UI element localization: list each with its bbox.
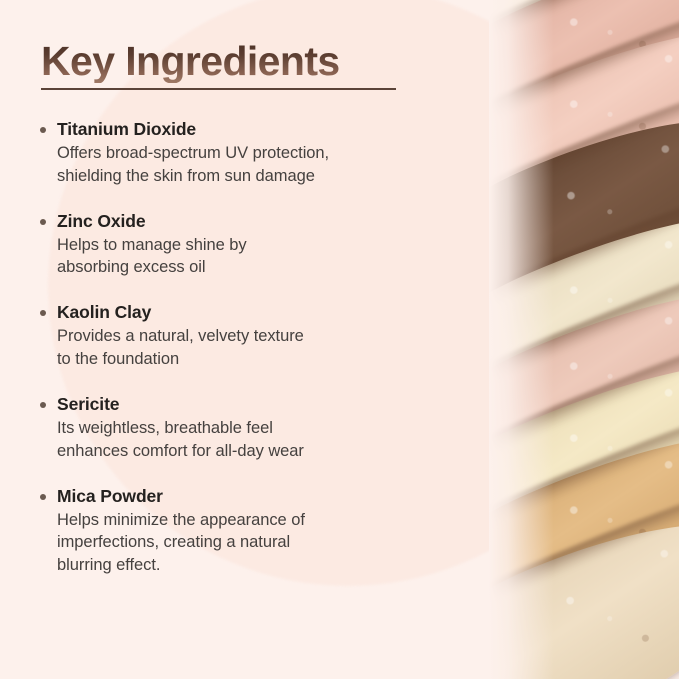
bullet-icon xyxy=(40,219,46,225)
powder-swatch-image xyxy=(489,0,679,679)
list-item: Mica Powder Helps minimize the appearanc… xyxy=(38,485,438,577)
page-title: Key Ingredients xyxy=(41,40,340,83)
ingredient-name: Kaolin Clay xyxy=(38,301,438,324)
title-underline xyxy=(41,88,396,90)
key-ingredients-infographic: Key Ingredients Titanium Dioxide Offers … xyxy=(0,0,679,679)
ingredient-description: Offers broad-spectrum UV protection, shi… xyxy=(38,142,438,188)
bullet-icon xyxy=(40,494,46,500)
ingredient-description: Provides a natural, velvety texture to t… xyxy=(38,325,438,371)
ingredient-name: Titanium Dioxide xyxy=(38,118,438,141)
list-item: Titanium Dioxide Offers broad-spectrum U… xyxy=(38,118,438,188)
ingredient-name: Sericite xyxy=(38,393,438,416)
bullet-icon xyxy=(40,127,46,133)
ingredient-description: Helps minimize the appearance of imperfe… xyxy=(38,509,438,577)
bullet-icon xyxy=(40,402,46,408)
ingredient-description: Helps to manage shine by absorbing exces… xyxy=(38,234,438,280)
ingredient-name: Mica Powder xyxy=(38,485,438,508)
list-item: Zinc Oxide Helps to manage shine by abso… xyxy=(38,210,438,280)
powder-bands-group xyxy=(489,0,679,679)
ingredient-description: Its weightless, breathable feel enhances… xyxy=(38,417,438,463)
ingredient-name: Zinc Oxide xyxy=(38,210,438,233)
list-item: Sericite Its weightless, breathable feel… xyxy=(38,393,438,463)
ingredient-list: Titanium Dioxide Offers broad-spectrum U… xyxy=(38,118,438,577)
list-item: Kaolin Clay Provides a natural, velvety … xyxy=(38,301,438,371)
